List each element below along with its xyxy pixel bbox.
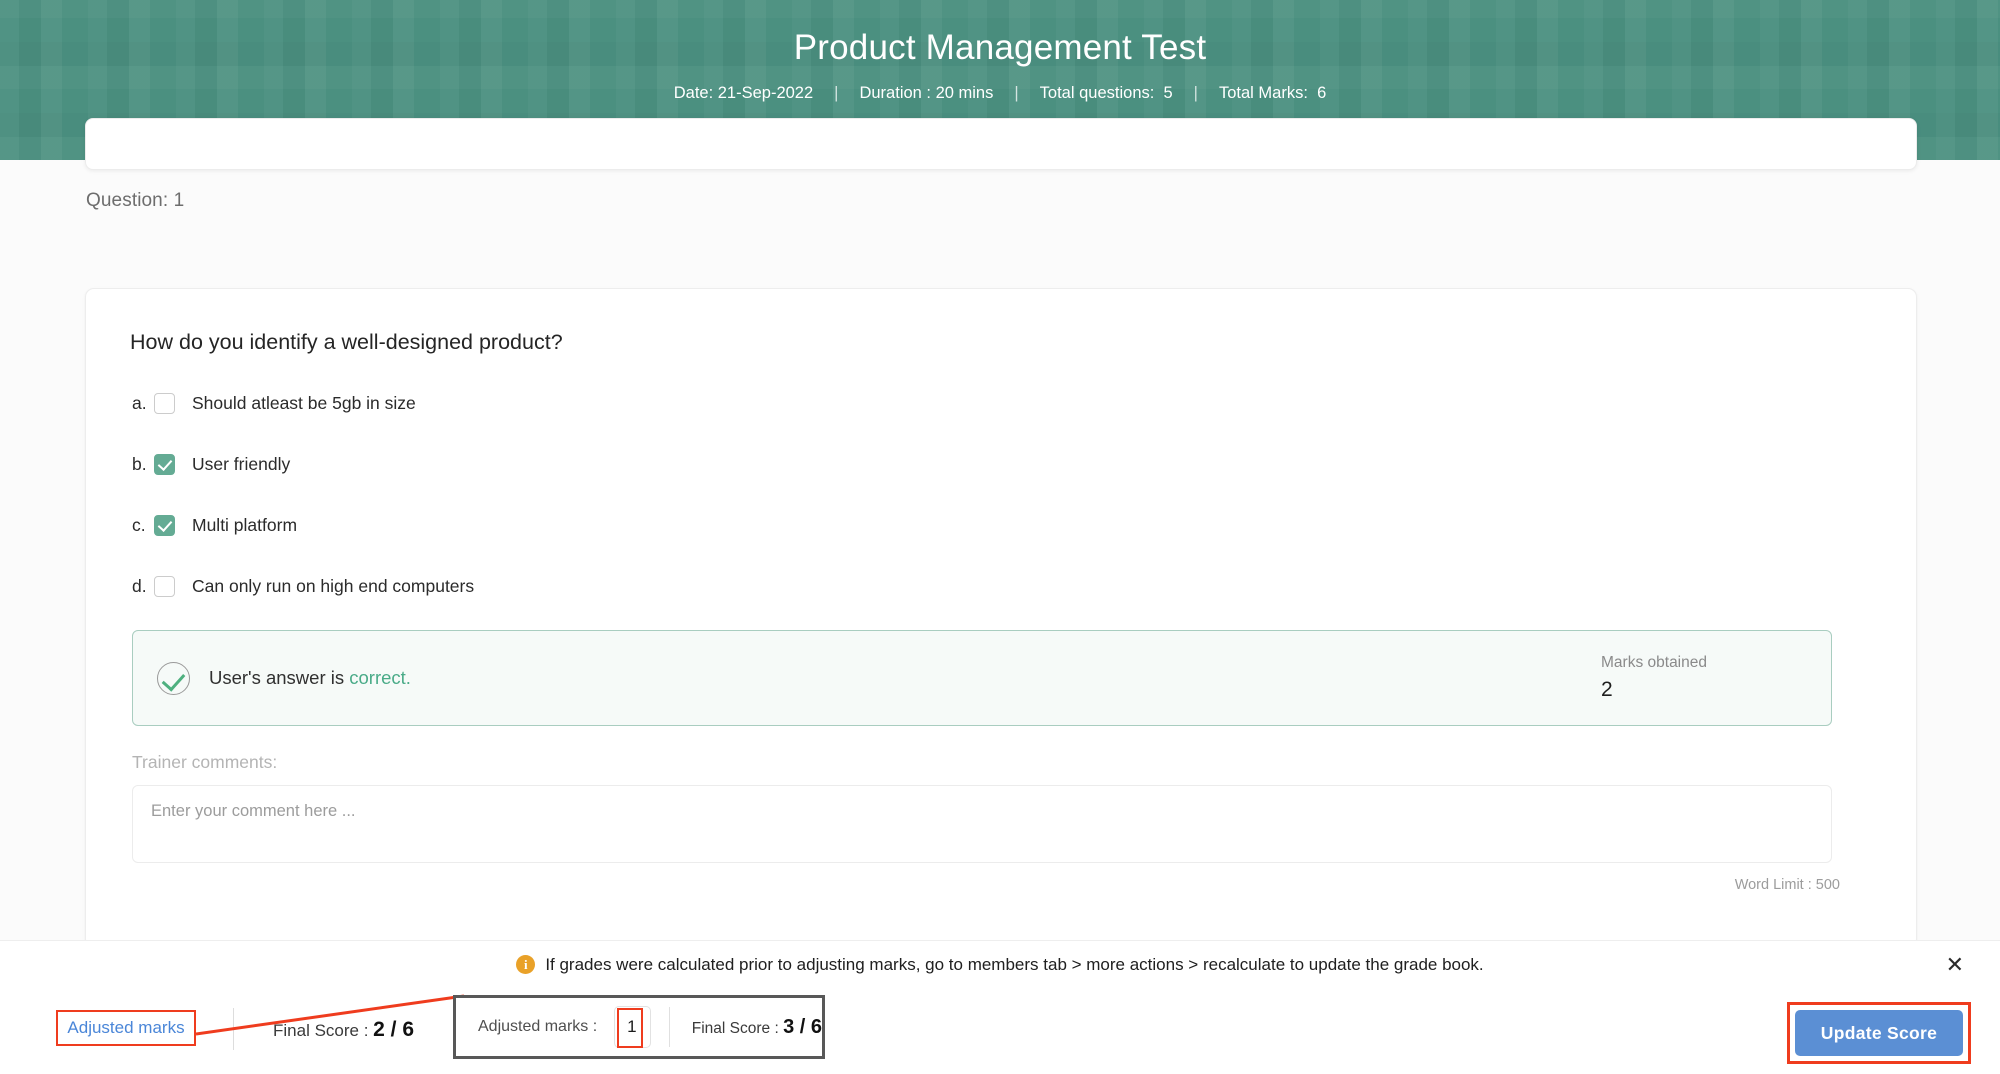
answer-result-verdict: correct. — [349, 667, 411, 688]
question-number-label: Question: 1 — [86, 190, 184, 212]
answer-result-text: User's answer is correct. — [209, 667, 411, 689]
question-card: How do you identify a well-designed prod… — [85, 288, 1917, 948]
meta-separator: | — [813, 82, 859, 104]
trainer-comments-label: Trainer comments: — [132, 752, 1878, 773]
update-score-highlight: Update Score — [1787, 1002, 1971, 1064]
notice-text: If grades were calculated prior to adjus… — [545, 955, 1483, 975]
option-row[interactable]: d. Can only run on high end computers — [132, 568, 1878, 604]
popup-final-score-label: Final Score : — [692, 1020, 783, 1037]
option-letter: b. — [132, 454, 154, 475]
option-checkbox-d[interactable] — [154, 576, 175, 597]
close-icon[interactable]: ✕ — [1946, 954, 1964, 976]
option-letter: a. — [132, 393, 154, 414]
marks-obtained-block: Marks obtained 2 — [1601, 652, 1803, 704]
meta-separator: | — [993, 82, 1039, 104]
marks-obtained-label: Marks obtained — [1601, 652, 1707, 674]
option-letter: c. — [132, 515, 154, 536]
meta-total-questions: Total questions: 5 — [1040, 82, 1173, 104]
adjusted-marks-popup: Adjusted marks : 1 Final Score : 3 / 6 — [453, 995, 825, 1059]
option-letter: d. — [132, 576, 154, 597]
footer-final-score-value: 2 / 6 — [373, 1018, 414, 1041]
meta-date: Date: 21-Sep-2022 — [674, 82, 813, 104]
adjusted-marks-value: 1 — [624, 1017, 636, 1037]
recalculate-notice-bar: i If grades were calculated prior to adj… — [0, 940, 2000, 988]
word-limit-text: Word Limit : 500 — [132, 877, 1840, 893]
option-row[interactable]: b. User friendly — [132, 446, 1878, 482]
answer-result-prefix: User's answer is — [209, 667, 349, 688]
adjusted-marks-input[interactable]: 1 — [614, 1006, 651, 1048]
info-icon: i — [516, 955, 535, 974]
meta-duration: Duration : 20 mins — [859, 82, 993, 104]
trainer-comments-placeholder: Enter your comment here ... — [151, 802, 356, 820]
marks-obtained-value: 2 — [1601, 676, 1707, 704]
footer-final-score: Final Score : 2 / 6 — [273, 1018, 414, 1042]
adjusted-marks-link[interactable]: Adjusted marks — [67, 1018, 184, 1038]
adjusted-marks-popup-label: Adjusted marks : — [478, 1018, 597, 1036]
option-label: Should atleast be 5gb in size — [192, 393, 416, 414]
meta-separator: | — [1173, 82, 1219, 104]
check-circle-icon — [157, 662, 190, 695]
page-title: Product Management Test — [0, 26, 2000, 70]
footer-final-score-label: Final Score : — [273, 1021, 373, 1040]
options-list: a. Should atleast be 5gb in size b. User… — [132, 385, 1878, 604]
popup-final-score-value: 3 / 6 — [783, 1016, 822, 1038]
option-label: Can only run on high end computers — [192, 576, 474, 597]
option-row[interactable]: c. Multi platform — [132, 507, 1878, 543]
test-meta-bar: Date: 21-Sep-2022 | Duration : 20 mins |… — [0, 82, 2000, 104]
trainer-comments-input[interactable]: Enter your comment here ... — [132, 785, 1832, 863]
option-label: User friendly — [192, 454, 290, 475]
update-score-button[interactable]: Update Score — [1795, 1010, 1963, 1056]
option-row[interactable]: a. Should atleast be 5gb in size — [132, 385, 1878, 421]
option-checkbox-a[interactable] — [154, 393, 175, 414]
adjusted-marks-link-highlight: Adjusted marks — [56, 1010, 196, 1046]
option-checkbox-c[interactable] — [154, 515, 175, 536]
option-checkbox-b[interactable] — [154, 454, 175, 475]
option-label: Multi platform — [192, 515, 297, 536]
score-footer-bar: Adjusted marks Final Score : 2 / 6 Updat… — [0, 988, 2000, 1074]
popup-final-score: Final Score : 3 / 6 — [692, 1016, 822, 1039]
question-scroll-area[interactable]: Question: 1 How do you identify a well-d… — [0, 160, 2000, 940]
answer-result-banner: User's answer is correct. Marks obtained… — [132, 630, 1832, 726]
question-text: How do you identify a well-designed prod… — [130, 327, 1878, 357]
previous-question-card-partial[interactable] — [85, 118, 1917, 170]
footer-divider — [233, 1008, 234, 1050]
meta-total-marks: Total Marks: 6 — [1219, 82, 1326, 104]
